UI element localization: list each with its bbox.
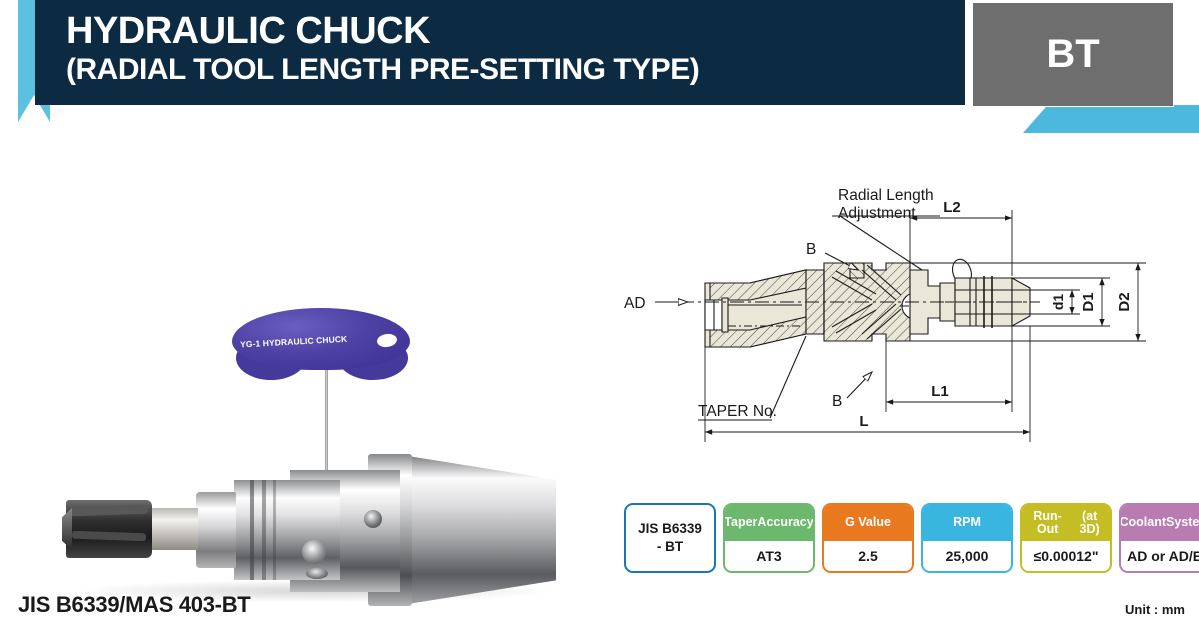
footer-unit: Unit : mm (1125, 602, 1185, 617)
label-b-bottom: B (832, 393, 842, 410)
callout-radial-length: Radial Length (838, 187, 934, 204)
spec-badge-standard: JIS B6339- BT (624, 503, 716, 573)
spec-badge-g-value-title: G Value (824, 505, 912, 541)
dimension-l2: L2 (943, 199, 961, 216)
spec-badge-rpm: RPM25,000 (921, 503, 1013, 573)
spec-badge-coolant-system-value: AD or AD/B (1121, 541, 1199, 571)
spec-badge-taper-accuracy-title: TaperAccuracy (725, 505, 813, 541)
holder-groove-3 (273, 480, 276, 580)
footer-standard: JIS B6339/MAS 403-BT (18, 592, 250, 618)
dimension-l: L (859, 413, 868, 430)
dimension-l1: L1 (931, 383, 949, 400)
adjustment-screw-icon (364, 510, 382, 528)
technical-drawing: Radial Length Adjustment AD B B TAPER No… (610, 150, 1199, 480)
page-subtitle: (RADIAL TOOL LENGTH PRE-SETTING TYPE) (66, 55, 699, 86)
spec-badge-taper-accuracy: TaperAccuracyAT3 (723, 503, 815, 573)
end-mill-tip (62, 508, 72, 550)
spec-badge-taper-accuracy-value: AT3 (725, 541, 813, 571)
page-title: HYDRAULIC CHUCK (66, 12, 430, 51)
shank-type-label: BT (1046, 32, 1099, 77)
bt-taper-cone (408, 456, 556, 604)
dimension-d1: D1 (1080, 292, 1097, 311)
spec-badge-rpm-value: 25,000 (923, 541, 1011, 571)
dimension-d2: D2 (1116, 292, 1133, 311)
holder-groove-2 (262, 480, 266, 580)
dimension-d1-small: d1 (1050, 294, 1066, 311)
spec-badge-run-out-value: ≤0.00012" (1022, 541, 1110, 571)
spec-badge-row: JIS B6339- BTTaperAccuracyAT3G Value2.5R… (624, 503, 1199, 573)
spec-badge-coolant-system: CoolantSystemAD or AD/B (1119, 503, 1199, 573)
shank-type-badge: BT (972, 2, 1174, 107)
clamping-screw-icon (302, 540, 326, 564)
spec-badge-run-out-title: Run-Out(at 3D) (1022, 505, 1110, 541)
spec-badge-rpm-title: RPM (923, 505, 1011, 541)
product-photo: YG-1 HYDRAULIC CHUCK (0, 140, 600, 470)
callout-radial-adjustment: Adjustment (838, 205, 916, 222)
label-ad: AD (624, 295, 646, 312)
holder-groove-1 (250, 480, 254, 580)
callout-taper-no: TAPER No. (698, 403, 777, 420)
wrench-stem (325, 368, 328, 478)
coolant-port-icon (306, 568, 328, 579)
holder-nose (196, 492, 236, 568)
spec-badge-g-value-value: 2.5 (824, 541, 912, 571)
spec-badge-run-out: Run-Out(at 3D)≤0.00012" (1020, 503, 1112, 573)
spec-badge-g-value: G Value2.5 (822, 503, 914, 573)
label-b-top: B (806, 241, 816, 258)
cyan-accent-right (1023, 105, 1199, 133)
page-header: HYDRAULIC CHUCK (RADIAL TOOL LENGTH PRE-… (0, 0, 1199, 140)
spec-badge-coolant-system-title: CoolantSystem (1121, 505, 1199, 541)
catalog-page: HYDRAULIC CHUCK (RADIAL TOOL LENGTH PRE-… (0, 0, 1199, 628)
end-mill-shank (150, 508, 198, 550)
spec-badge-standard-text: JIS B6339- BT (626, 520, 714, 556)
